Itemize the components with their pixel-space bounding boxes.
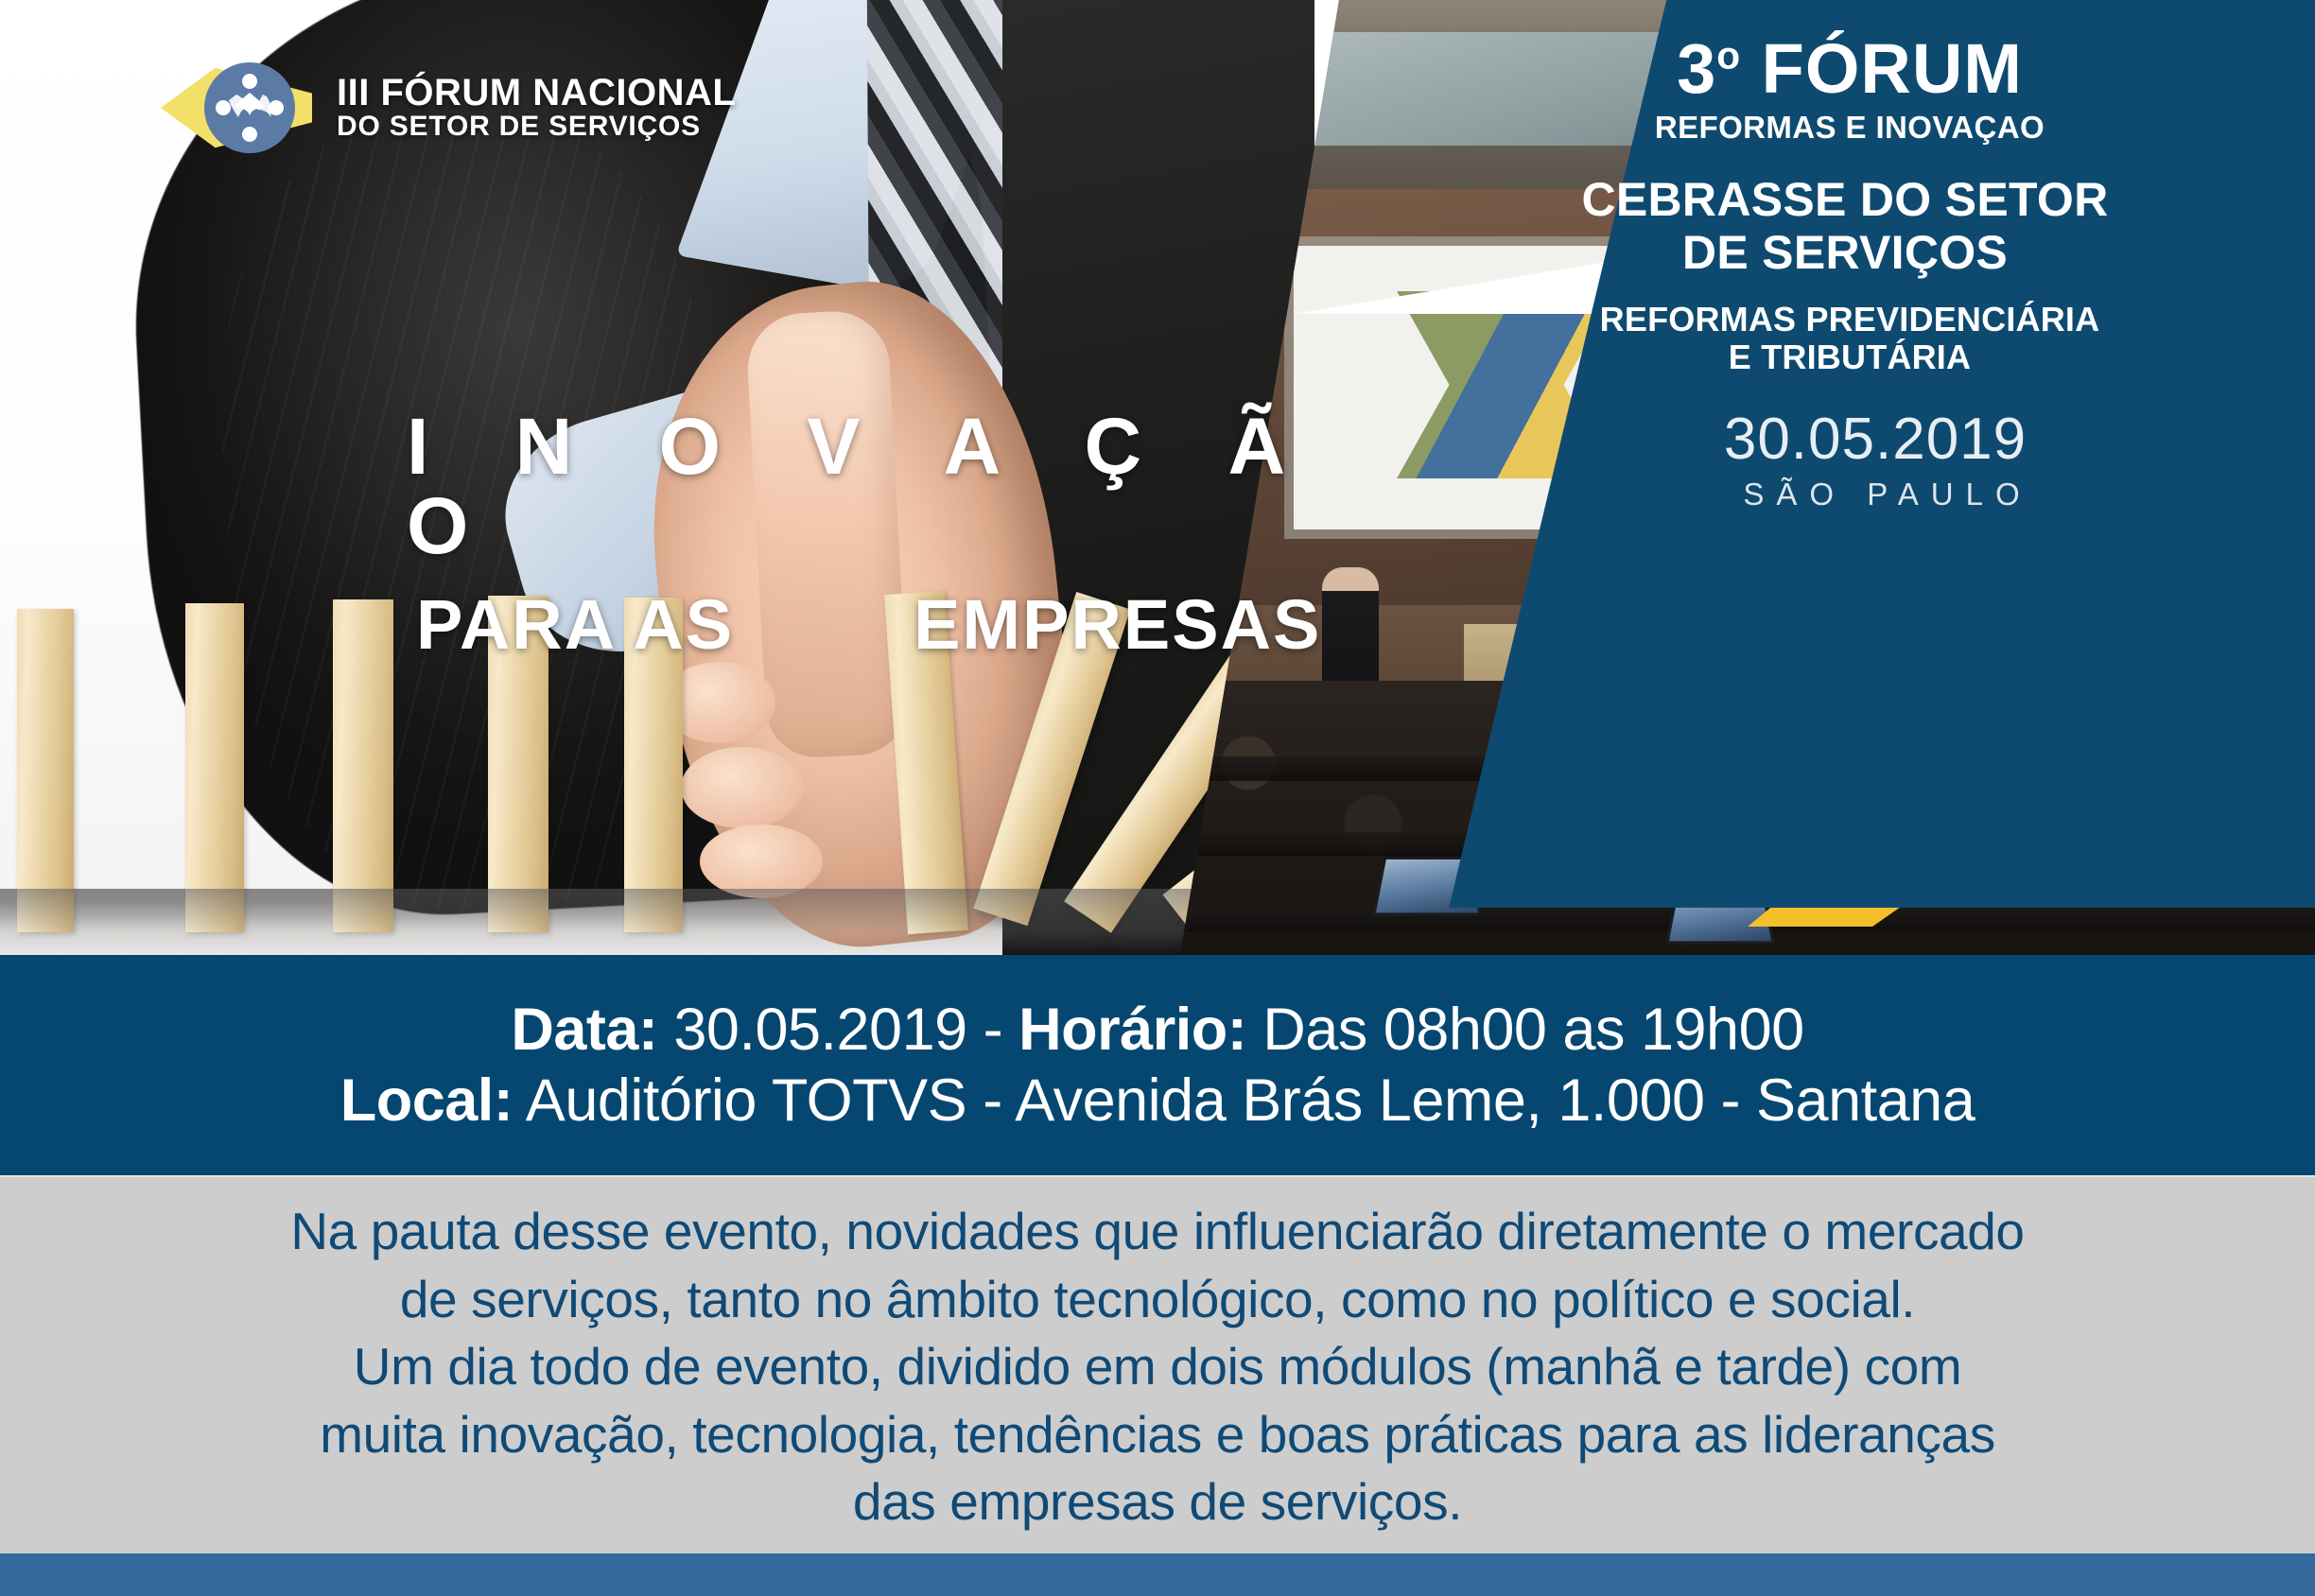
panel-forum-ordinal: o — [1716, 33, 1741, 77]
forum-logo-text: III FÓRUM NACIONAL DO SETOR DE SERVIÇOS — [337, 74, 736, 141]
event-poster: 3o FÓRUM REFORMAS E INOVAÇAO CEBRASSE DO… — [0, 0, 2315, 1596]
info-line-location: Local: Auditório TOTVS - Avenida Brás Le… — [340, 1066, 1975, 1136]
description-line: muita inovação, tecnologia, tendências e… — [0, 1401, 2315, 1469]
value-horario: Das 08h00 as 19h00 — [1246, 997, 1803, 1063]
value-local: Auditório TOTVS - Avenida Brás Leme, 1.0… — [513, 1067, 1975, 1134]
domino-block — [17, 609, 74, 932]
bottom-accent-bar — [0, 1553, 2315, 1596]
label-data: Data: — [511, 997, 657, 1063]
event-info-bar: Data: 30.05.2019 - Horário: Das 08h00 as… — [0, 955, 2315, 1175]
value-data: 30.05.2019 - — [657, 997, 1018, 1063]
panel-theme-line2: E TRIBUTÁRIA — [1384, 338, 2315, 376]
logo-line2: DO SETOR DE SERVIÇOS — [337, 113, 736, 142]
panel-forum-word: FÓRUM — [1741, 29, 2023, 108]
knuckle-shape — [681, 747, 804, 828]
panel-subtitle: REFORMAS E INOVAÇAO — [1384, 110, 2315, 146]
logo-line1: III FÓRUM NACIONAL — [337, 74, 736, 113]
panel-title-line1: CEBRASSE DO SETOR — [1375, 174, 2315, 225]
description-line: Um dia todo de evento, dividido em dois … — [0, 1333, 2315, 1401]
domino-block — [624, 598, 683, 932]
eye-people-logo-icon — [161, 55, 312, 161]
label-local: Local: — [340, 1067, 513, 1134]
panel-text-block: 3o FÓRUM REFORMAS E INOVAÇAO CEBRASSE DO… — [1294, 0, 2315, 908]
panel-forum-number: 3 — [1677, 29, 1716, 108]
knuckle-shape — [700, 824, 823, 898]
desk-surface-shadow — [0, 889, 1324, 955]
event-description-block: Na pauta desse evento, novidades que inf… — [0, 1175, 2315, 1553]
description-line: de serviços, tanto no âmbito tecnológico… — [0, 1266, 2315, 1334]
forum-logo: III FÓRUM NACIONAL DO SETOR DE SERVIÇOS — [161, 55, 736, 161]
domino-block — [488, 596, 548, 932]
description-line: Na pauta desse evento, novidades que inf… — [0, 1198, 2315, 1266]
hero-photo-area: 3o FÓRUM REFORMAS E INOVAÇAO CEBRASSE DO… — [0, 0, 2315, 955]
panel-forum-title: 3o FÓRUM — [1384, 34, 2315, 104]
domino-block — [333, 599, 393, 932]
label-horario: Horário: — [1018, 997, 1246, 1063]
panel-city: SÃO PAULO — [1460, 477, 2315, 512]
panel-title-line2: DE SERVIÇOS — [1375, 227, 2315, 278]
logo-people-pinwheel-icon — [204, 62, 295, 153]
panel-theme-line1: REFORMAS PREVIDENCIÁRIA — [1384, 301, 2315, 338]
panel-date: 30.05.2019 — [1436, 406, 2315, 473]
description-line: das empresas de serviços. — [0, 1468, 2315, 1536]
domino-block — [185, 603, 244, 932]
info-line-date-time: Data: 30.05.2019 - Horário: Das 08h00 as… — [511, 995, 1803, 1065]
